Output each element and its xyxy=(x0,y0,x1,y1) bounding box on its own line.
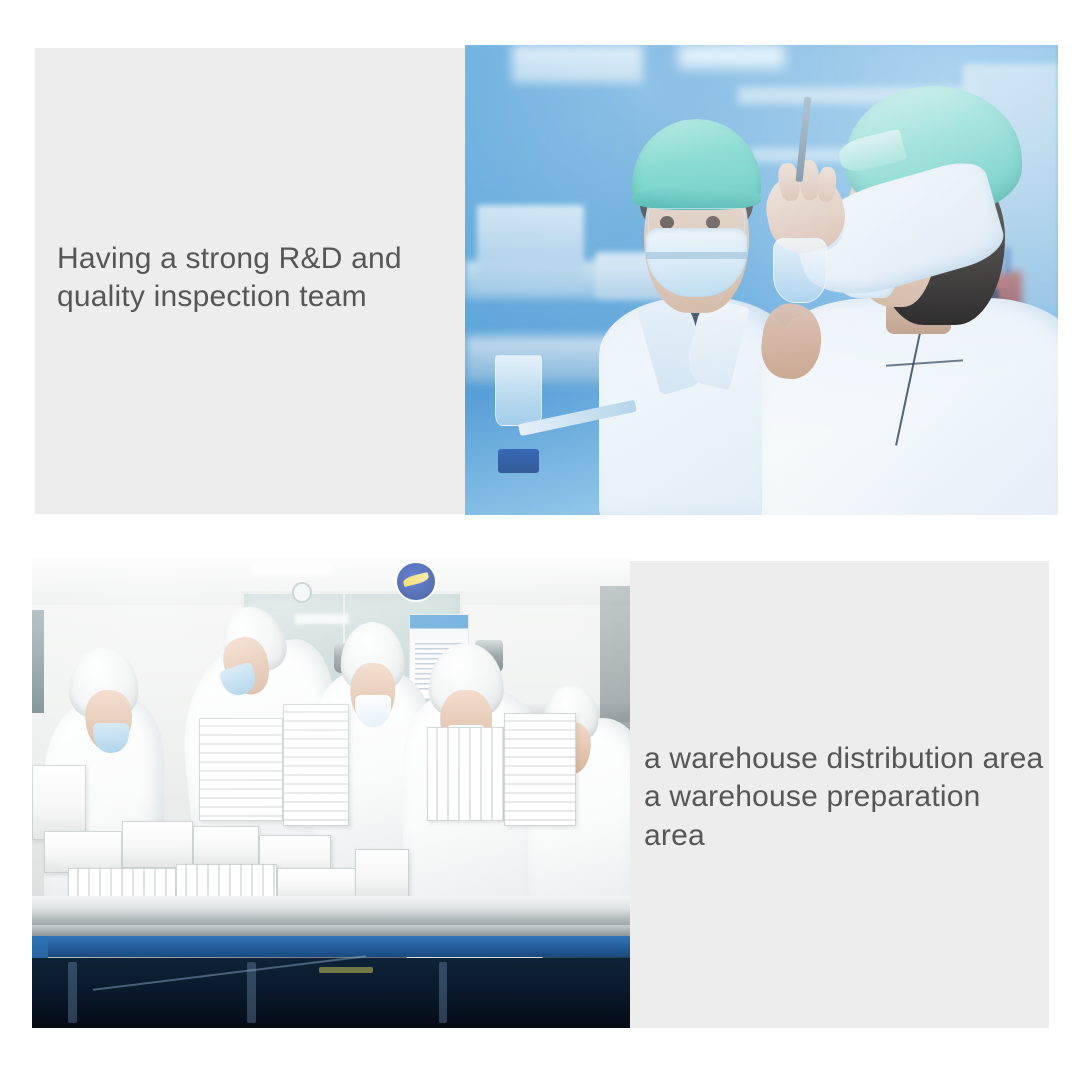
lab-scene xyxy=(465,45,1058,515)
slide-canvas: Having a strong R&D and quality inspecti… xyxy=(0,0,1080,1080)
warehouse-scene xyxy=(32,558,630,1028)
section-warehouse: a warehouse distribution area a warehous… xyxy=(0,520,1080,1080)
section-rnd-quality: Having a strong R&D and quality inspecti… xyxy=(0,0,1080,520)
lab-photo-lighting-overlay xyxy=(465,45,1058,515)
warehouse-photo-lighting-overlay xyxy=(32,558,630,1028)
caption-text-warehouse: a warehouse distribution area a warehous… xyxy=(630,740,1049,855)
photo-quality-inspection-lab xyxy=(465,45,1058,515)
caption-panel-rnd: Having a strong R&D and quality inspecti… xyxy=(35,48,465,514)
caption-panel-warehouse: a warehouse distribution area a warehous… xyxy=(630,561,1049,1028)
caption-text-rnd: Having a strong R&D and quality inspecti… xyxy=(35,240,402,317)
photo-warehouse-packing xyxy=(32,558,630,1028)
